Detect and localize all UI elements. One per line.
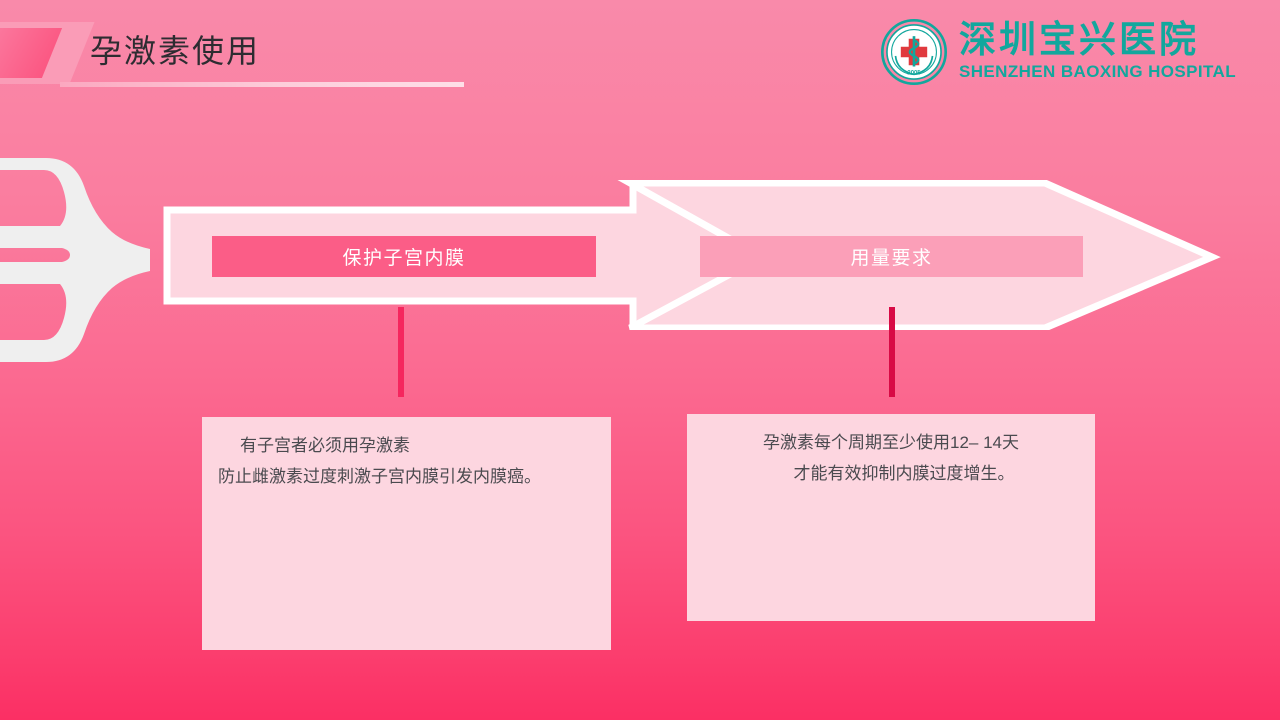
step-1-label: 保护子宫内膜	[342, 243, 465, 270]
step-2-label-chip[interactable]: 用量要求	[700, 236, 1083, 277]
page-title: 孕激素使用	[90, 26, 260, 72]
step-1-detail-line-1: 有子宫者必须用孕激素	[218, 431, 595, 462]
hospital-logo: 2005 深圳宝兴医院 SHENZHEN BAOXING HOSPITAL	[881, 16, 1236, 88]
hospital-name-en: SHENZHEN BAOXING HOSPITAL	[959, 61, 1236, 82]
step-1-connector	[398, 307, 404, 397]
hospital-emblem-icon: 2005	[881, 19, 947, 85]
step-2-detail-card: 孕激素每个周期至少使用12– 14天 才能有效抑制内膜过度增生。	[687, 414, 1095, 621]
step-2-label: 用量要求	[850, 243, 932, 270]
step-2-detail-line-1: 孕激素每个周期至少使用12– 14天	[703, 428, 1079, 459]
step-1-detail-card: 有子宫者必须用孕激素 防止雌激素过度刺激子宫内膜引发内膜癌。	[202, 417, 611, 650]
step-2-connector	[889, 307, 895, 397]
header-divider-line	[60, 82, 464, 87]
step-1-detail-line-2: 防止雌激素过度刺激子宫内膜引发内膜癌。	[218, 462, 595, 493]
hospital-name-cn: 深圳宝兴医院	[959, 21, 1236, 58]
process-arrow-band	[0, 180, 1280, 330]
step-2-detail-line-2: 才能有效抑制内膜过度增生。	[703, 459, 1079, 490]
step-1-label-chip[interactable]: 保护子宫内膜	[212, 236, 596, 277]
emblem-year: 2005	[907, 70, 921, 76]
